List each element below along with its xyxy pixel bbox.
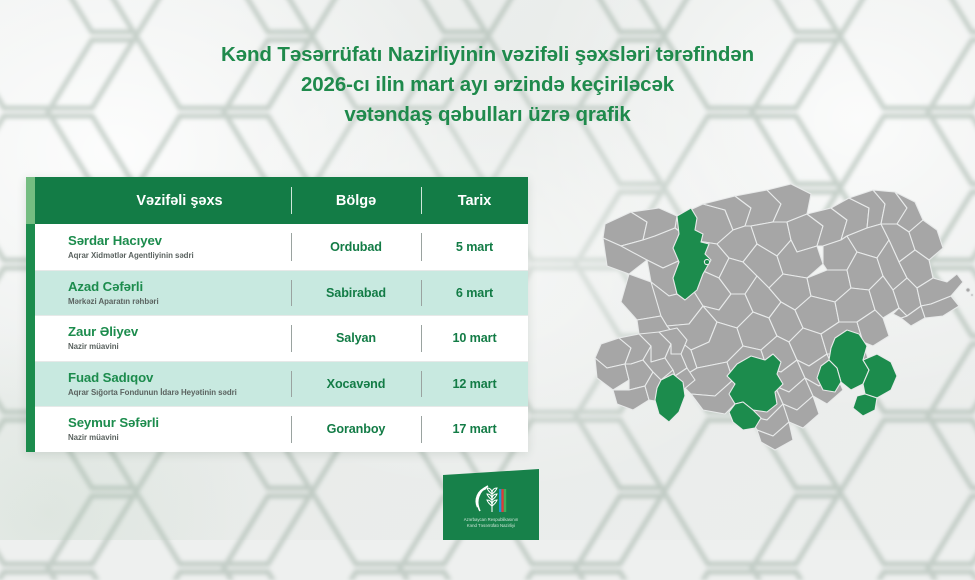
- cell-person: Sərdar Hacıyev Aqrar Xidmətlər Agentliyi…: [35, 224, 291, 270]
- map-district-base: [595, 184, 973, 450]
- cell-date: 12 mart: [421, 361, 528, 407]
- cell-date: 5 mart: [421, 224, 528, 270]
- row-accent-bar: [26, 406, 35, 452]
- cell-person: Zaur Əliyev Nazir müavini: [35, 315, 291, 361]
- cell-date: 10 mart: [421, 315, 528, 361]
- column-header-date: Tarix: [421, 177, 528, 224]
- cell-person: Seymur Səfərli Nazir müavini: [35, 406, 291, 452]
- cell-date: 17 mart: [421, 406, 528, 452]
- person-role: Nazir müavini: [68, 341, 291, 352]
- date-value: 10 mart: [452, 331, 496, 345]
- map-region-goranboy-dot: [704, 259, 709, 264]
- title-line-2: 2026-cı ilin mart ayı ərzində keçiriləcə…: [0, 70, 975, 100]
- date-value: 6 mart: [456, 286, 493, 300]
- row-accent-bar: [26, 361, 35, 407]
- column-header-region: Bölgə: [291, 177, 421, 224]
- header-accent-bar: [26, 177, 35, 224]
- logo-svg: Azərbaycan Respublikasının Kənd Təsərrüf…: [421, 467, 558, 540]
- table-row: Azad Cəfərli Mərkəzi Aparatın rəhbəri Sa…: [26, 270, 528, 316]
- date-value: 12 mart: [452, 377, 496, 391]
- person-name: Fuad Sadıqov: [68, 370, 291, 385]
- map-region-east-block-lower: [853, 394, 877, 416]
- region-name: Salyan: [336, 331, 376, 345]
- region-name: Goranboy: [327, 422, 386, 436]
- azerbaijan-map: [585, 178, 975, 478]
- date-value: 5 mart: [456, 240, 493, 254]
- cell-region: Sabirabad: [291, 270, 421, 316]
- row-accent-bar: [26, 224, 35, 270]
- logo-org-line-1: Azərbaycan Respublikasının: [464, 517, 519, 522]
- map-svg: [585, 178, 975, 478]
- cell-person: Azad Cəfərli Mərkəzi Aparatın rəhbəri: [35, 270, 291, 316]
- row-accent-bar: [26, 315, 35, 361]
- person-name: Seymur Səfərli: [68, 415, 291, 430]
- schedule-table: Vəzifəli şəxs Bölgə Tarix Sərdar Hacıyev…: [26, 177, 528, 452]
- ministry-logo-badge: Azərbaycan Respublikasının Kənd Təsərrüf…: [421, 467, 558, 540]
- cell-region: Xocavənd: [291, 361, 421, 407]
- region-name: Sabirabad: [326, 286, 386, 300]
- title-line-3: vətəndaş qəbulları üzrə qrafik: [0, 100, 975, 130]
- region-name: Ordubad: [330, 240, 382, 254]
- page-title: Kənd Təsərrüfatı Nazirliyinin vəzifəli ş…: [0, 40, 975, 130]
- table-row: Zaur Əliyev Nazir müavini Salyan 10 mart: [26, 315, 528, 361]
- cell-person: Fuad Sadıqov Aqrar Sığorta Fondunun İdar…: [35, 361, 291, 407]
- person-name: Sərdar Hacıyev: [68, 233, 291, 248]
- cell-region: Goranboy: [291, 406, 421, 452]
- cell-region: Salyan: [291, 315, 421, 361]
- map-region-east-block: [863, 354, 897, 398]
- person-role: Nazir müavini: [68, 432, 291, 443]
- person-role: Aqrar Sığorta Fondunun İdarə Heyətinin s…: [68, 387, 291, 398]
- logo-org-line-2: Kənd Təsərrüfatı Nazirliyi: [467, 523, 515, 528]
- cell-date: 6 mart: [421, 270, 528, 316]
- column-header-person: Vəzifəli şəxs: [35, 177, 291, 224]
- row-accent-bar: [26, 270, 35, 316]
- date-value: 17 mart: [452, 422, 496, 436]
- person-name: Zaur Əliyev: [68, 324, 291, 339]
- region-name: Xocavənd: [327, 377, 386, 391]
- table-row: Sərdar Hacıyev Aqrar Xidmətlər Agentliyi…: [26, 224, 528, 270]
- title-line-1: Kənd Təsərrüfatı Nazirliyinin vəzifəli ş…: [0, 40, 975, 70]
- person-role: Mərkəzi Aparatın rəhbəri: [68, 296, 291, 307]
- table-row: Fuad Sadıqov Aqrar Sığorta Fondunun İdar…: [26, 361, 528, 407]
- table-row: Seymur Səfərli Nazir müavini Goranboy 17…: [26, 406, 528, 452]
- person-name: Azad Cəfərli: [68, 279, 291, 294]
- cell-region: Ordubad: [291, 224, 421, 270]
- person-role: Aqrar Xidmətlər Agentliyinin sədri: [68, 250, 291, 261]
- table-header-row: Vəzifəli şəxs Bölgə Tarix: [26, 177, 528, 224]
